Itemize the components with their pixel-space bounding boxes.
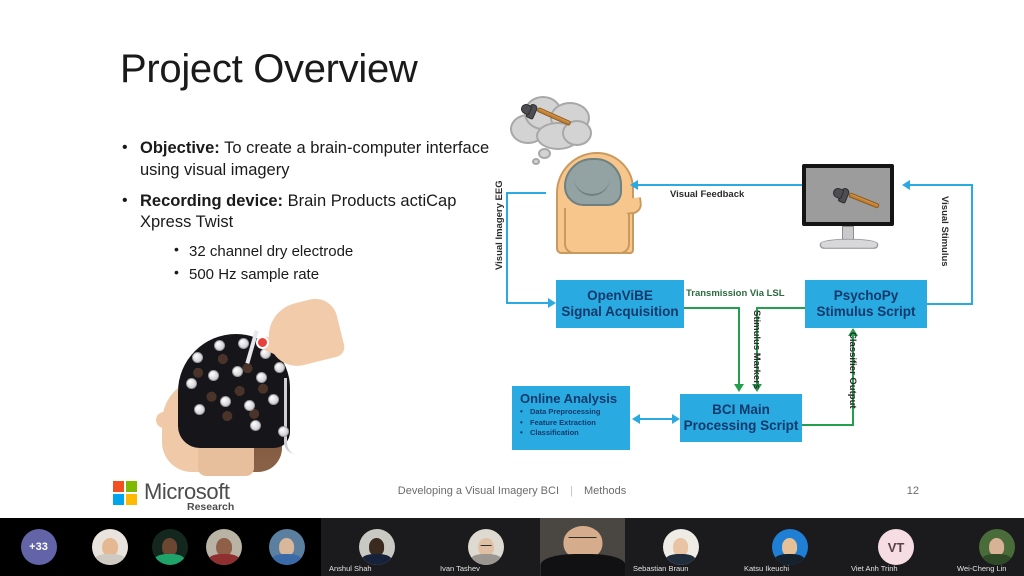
openvibe-line1: OpenViBE [587,288,653,304]
bci-main-line1: BCI Main [712,402,770,418]
electrode-marker-dot [256,336,269,349]
electrode-icon [238,338,249,349]
avatar[interactable] [663,529,699,565]
electrode-icon [220,396,231,407]
head-jaw [564,208,630,254]
electrode-icon [250,420,261,431]
electrode-icon [278,426,289,437]
connector-visual-feedback [638,184,802,186]
avatar-initials-text: VT [888,540,905,555]
online-analysis-item-classification: Classification [520,428,600,439]
label-classifier-output: Classifier Output [847,332,858,409]
avatar-initials[interactable]: VT [878,529,914,565]
participant-tile-viet-anh-trinh[interactable]: VT Viet Anh Trinh [843,518,949,576]
participant-video-strip[interactable]: +33 [0,518,1024,576]
connector-eeg-vertical [506,192,508,304]
avatar-photo [206,529,242,565]
avatar-photo [468,529,504,565]
connector-stimulus-vertical [971,184,973,305]
avatar[interactable] [269,529,305,565]
live-video-feed [540,518,625,576]
electrode-icon [208,370,219,381]
overflow-count: +33 [29,541,48,553]
arrow-to-bci-main [672,414,680,424]
bullet-objective: Objective: To create a brain-computer in… [120,138,490,182]
bullet-recording-device: Recording device: Brain Products actiCap… [120,191,490,287]
avatar-body [209,554,240,565]
bullet-objective-label: Objective: [140,139,220,157]
psychopy-line1: PsychoPy [834,288,899,304]
participant-tile-wei-cheng-lin[interactable]: Wei-Cheng Lin [949,518,1024,576]
slide-footer: Microsoft Research Developing a Visual I… [0,470,1024,518]
bci-system-diagram: Visual Imagery EEG Visual Feedback Visua… [490,88,990,468]
online-analysis-item-feature-extraction: Feature Extraction [520,418,600,429]
bullet-recording-device-label: Recording device: [140,192,283,210]
participant-name: Sebastian Braun [633,564,688,573]
participant-name: Anshul Shah [329,564,372,573]
bullet-sublist: 32 channel dry electrode 500 Hz sample r… [140,240,490,287]
page-title: Project Overview [120,47,418,91]
electrode-icon [214,340,225,351]
label-transmission-via-lsl: Transmission Via LSL [686,288,785,299]
label-visual-feedback: Visual Feedback [670,189,744,200]
electrode-icon [268,394,279,405]
connector-markers-horizontal [756,307,808,309]
glasses-icon [481,545,492,548]
participant-tile-katsu-ikeuchi[interactable]: Katsu Ikeuchi [736,518,843,576]
participant-name: Wei-Cheng Lin [957,564,1006,573]
avatar-photo [663,529,699,565]
arrow-to-online-analysis [632,414,640,424]
monitor-icon [802,164,898,256]
monitor-screen [802,164,894,226]
label-stimulus-markers: Stimulus Markers [751,310,762,389]
overflow-avatar[interactable]: +33 [21,529,57,565]
sub-bullet-channels: 32 channel dry electrode [173,240,490,263]
avatar[interactable] [468,529,504,565]
connector-lsl-vertical [738,307,740,386]
avatar[interactable] [772,529,808,565]
label-visual-imagery-eeg: Visual Imagery EEG [494,180,505,270]
participant-tile-overflow[interactable]: +33 [0,518,77,576]
avatar-photo [979,529,1015,565]
electrode-icon [186,378,197,389]
cloud-tail [532,158,540,165]
participant-name: Ivan Tashev [440,564,480,573]
participant-tile-active-speaker[interactable] [540,518,625,576]
participant-tile-anshul-shah[interactable]: Anshul Shah [321,518,432,576]
connector-analysis-bci [640,418,672,420]
participant-name: Viet Anh Trinh [851,564,898,573]
avatar-body [271,554,302,565]
meeting-window: Project Overview Objective: To create a … [0,0,1024,576]
arrow-lsl-to-bci [734,384,744,392]
footer-section: Methods [584,485,626,497]
connector-classifier-horizontal [802,424,854,426]
electrode-icon [194,404,205,415]
connector-stimulus-top [910,184,972,186]
openvibe-line2: Signal Acquisition [561,304,678,320]
brand-sublabel: Research [187,501,234,513]
online-analysis-title: Online Analysis [520,391,617,406]
participant-tile-avatar[interactable] [252,518,321,576]
brain-icon [564,158,622,206]
electrode-icon [274,362,285,373]
footer-breadcrumb: Developing a Visual Imagery BCI | Method… [0,485,1024,497]
avatar[interactable] [152,529,188,565]
sub-bullet-sample-rate: 500 Hz sample rate [173,263,490,286]
participant-tile-sebastian-braun[interactable]: Sebastian Braun [625,518,736,576]
participant-tile-avatar[interactable] [143,518,196,576]
glasses-icon [568,537,597,541]
electrode-wire [284,378,300,454]
monitor-base [818,239,880,249]
footer-deck-title: Developing a Visual Imagery BCI [398,485,559,497]
head-profile-icon [540,146,660,254]
footer-separator: | [570,485,573,497]
eeg-cap-photo [140,300,345,472]
avatar[interactable] [92,529,128,565]
electrode-icon [192,352,203,363]
participant-tile-avatar[interactable] [77,518,143,576]
electrode-icon [244,400,255,411]
avatar-photo [152,529,188,565]
electrode-icon [232,366,243,377]
avatar[interactable] [206,529,242,565]
avatar[interactable] [979,529,1015,565]
avatar-photo [772,529,808,565]
bullet-list: Objective: To create a brain-computer in… [120,138,490,296]
connector-eeg-top [506,192,546,194]
avatar-photo [269,529,305,565]
connector-lsl-horizontal [684,307,740,309]
nose [156,412,172,428]
psychopy-line2: Stimulus Script [816,304,915,320]
arrow-to-head [630,180,638,190]
online-analysis-items: Data Preprocessing Feature Extraction Cl… [520,407,600,439]
connector-stimulus-bottom [927,303,973,305]
avatar-body [95,554,126,565]
participant-name: Katsu Ikeuchi [744,564,789,573]
online-analysis-item-preprocessing: Data Preprocessing [520,407,600,418]
diagram-box-psychopy[interactable]: PsychoPy Stimulus Script [805,280,927,328]
presentation-slide[interactable]: Project Overview Objective: To create a … [0,0,1024,518]
avatar-photo [359,529,395,565]
participant-tile-ivan-tashev[interactable]: Ivan Tashev [432,518,540,576]
arrow-to-openvibe [548,298,556,308]
avatar[interactable] [359,529,395,565]
connector-eeg-bottom [506,302,548,304]
participant-tile-avatar[interactable] [196,518,252,576]
diagram-box-bci-main[interactable]: BCI Main Processing Script [680,394,802,442]
page-number: 12 [907,485,919,497]
diagram-box-online-analysis[interactable]: Online Analysis Data Preprocessing Featu… [512,386,630,450]
electrode-icon [256,372,267,383]
bci-main-line2: Processing Script [684,418,799,434]
arrow-to-monitor [902,180,910,190]
avatar-body [154,554,185,565]
speaker-body [540,554,625,576]
avatar-photo [92,529,128,565]
head-nose [625,197,643,215]
diagram-box-openvibe[interactable]: OpenViBE Signal Acquisition [556,280,684,328]
label-visual-stimulus: Visual Stimulus [939,196,950,267]
hammer-handle [848,192,880,209]
